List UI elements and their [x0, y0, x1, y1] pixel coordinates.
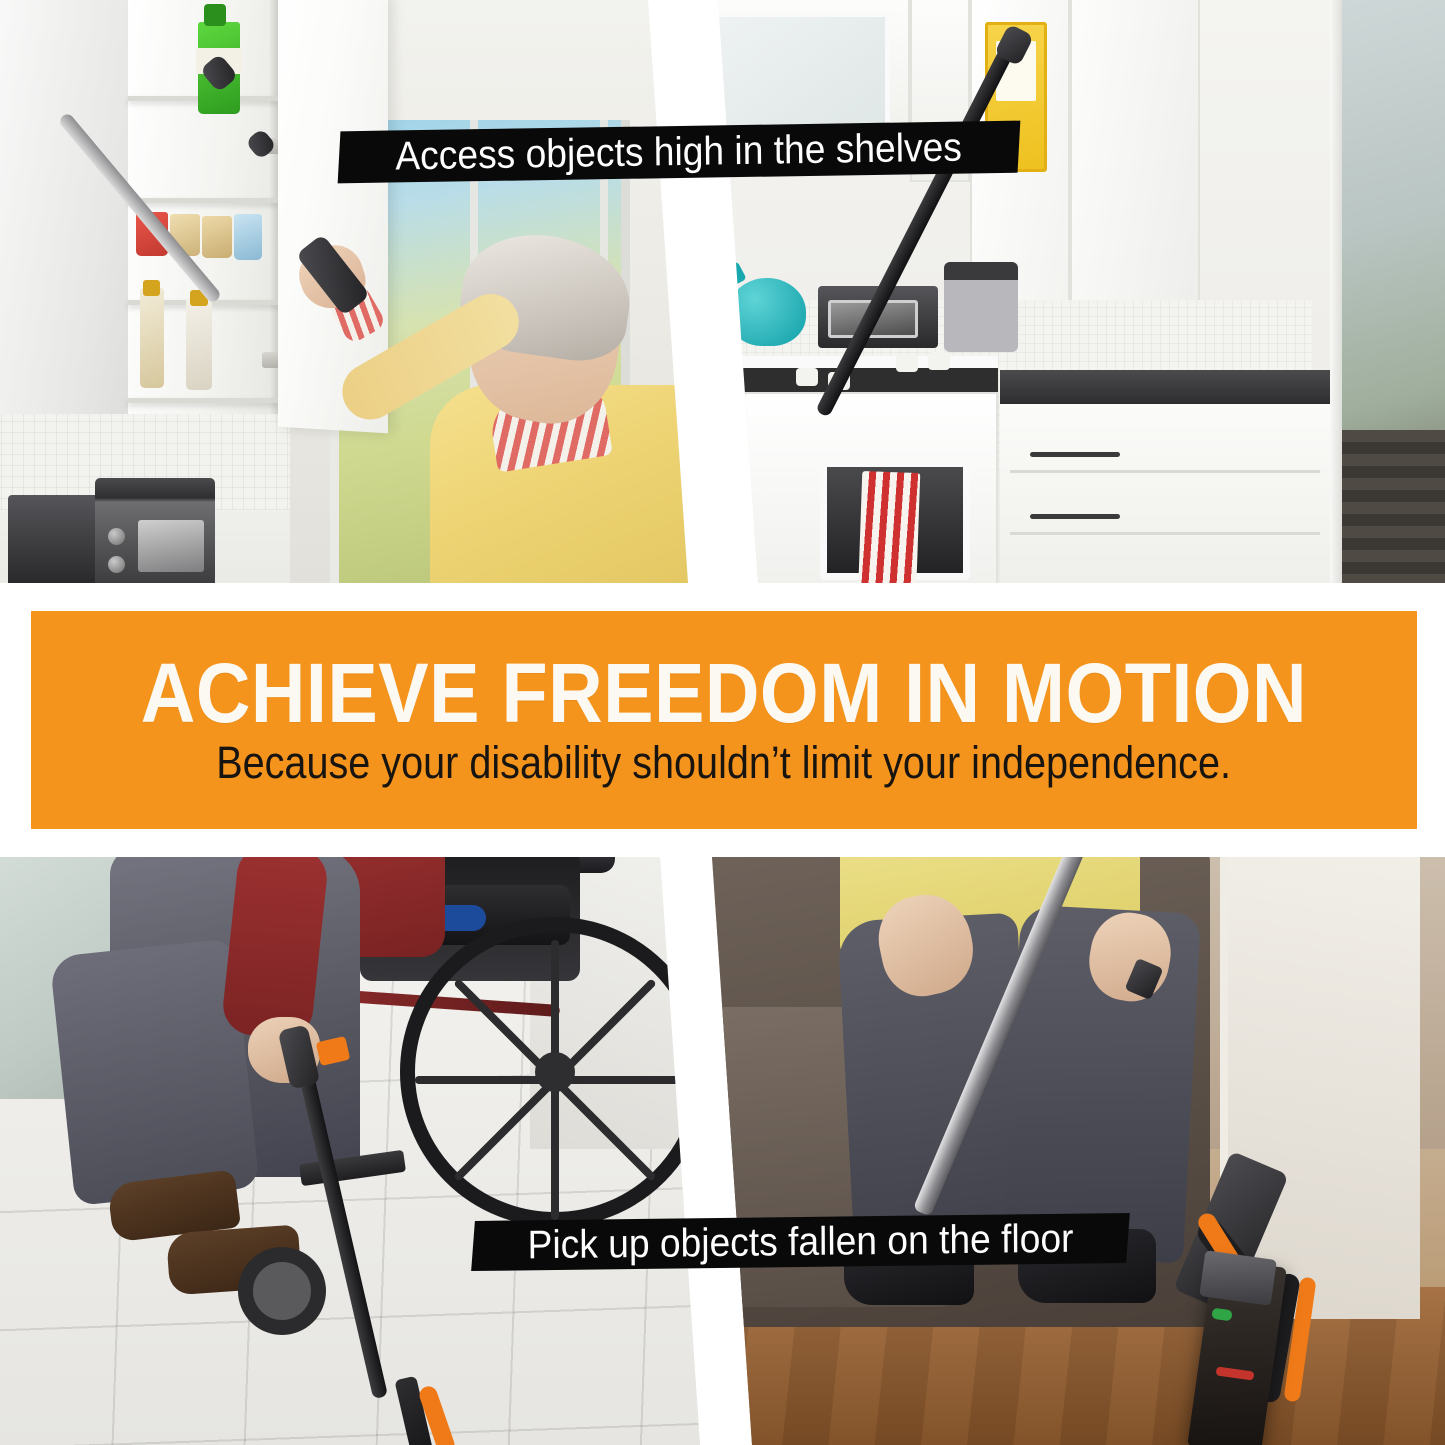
photo-woman-reaching-cabinet [0, 0, 700, 583]
banner-subheadline: Because your disability shouldn’t limit … [217, 739, 1232, 786]
wheelchair-rear-wheel [400, 917, 700, 1227]
photo-reacher-grabbing-remote [660, 857, 1445, 1445]
photo-man-wheelchair-kitchen [700, 0, 1445, 583]
top-photo-band [0, 0, 1445, 583]
caption-bottom-text: Pick up objects fallen on the floor [527, 1219, 1073, 1266]
gutter-top [0, 583, 1445, 611]
banner-headline: ACHIEVE FREEDOM IN MOTION [141, 654, 1307, 733]
promo-banner: ACHIEVE FREEDOM IN MOTION Because your d… [31, 611, 1417, 829]
tv-remote-top-panel [1199, 1250, 1277, 1306]
teal-kettle [728, 278, 806, 346]
infographic-page: ACHIEVE FREEDOM IN MOTION Because your d… [0, 0, 1445, 1445]
bottom-photo-band [0, 857, 1445, 1445]
striped-towel [858, 471, 921, 583]
gutter-bottom [0, 829, 1445, 857]
photo-wheelchair-picking-keys [0, 857, 700, 1445]
caption-top: Access objects high in the shelves [338, 121, 1021, 184]
caption-top-text: Access objects high in the shelves [396, 128, 963, 177]
wheelchair-caster-wheel [238, 1247, 326, 1335]
caption-bottom: Pick up objects fallen on the floor [471, 1213, 1130, 1271]
